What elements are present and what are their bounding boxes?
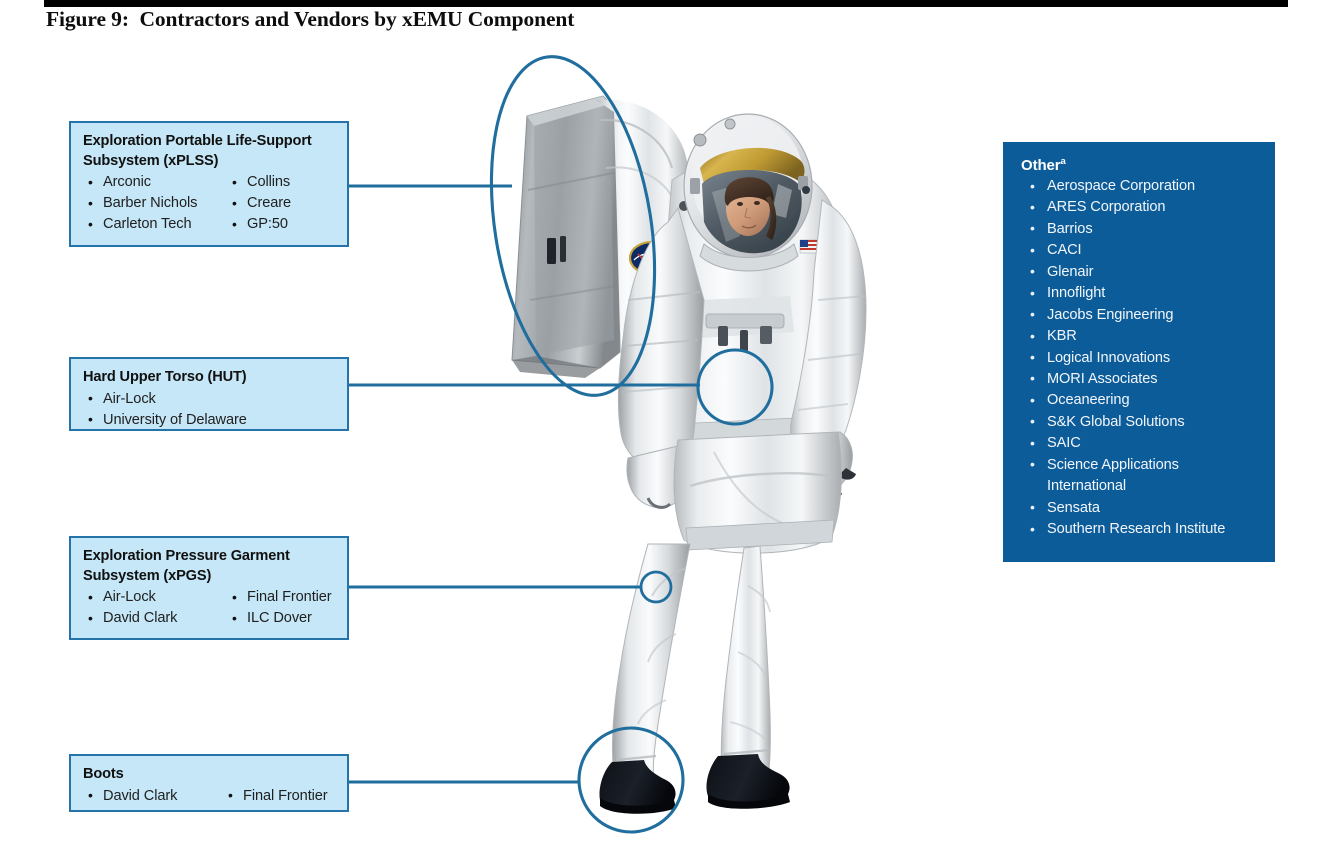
astronaut-figure [512, 96, 866, 814]
callout-xplss-lists: Arconic Barber Nichols Carleton Tech Col… [83, 171, 337, 235]
boots [600, 754, 791, 814]
list-item: Final Frontier [227, 587, 347, 608]
callout-xplss-title: Exploration Portable Life-Support Subsys… [83, 132, 337, 171]
list-item: KBR [1021, 326, 1263, 347]
list-item: S&K Global Solutions [1021, 412, 1263, 433]
list-item: GP:50 [227, 214, 347, 235]
callout-xpgs-lists: Air-Lock David Clark Final Frontier ILC … [83, 586, 337, 629]
list-item: Jacobs Engineering [1021, 305, 1263, 326]
callout-xpgs-col-left: Air-Lock David Clark [83, 587, 227, 629]
list-item: Glenair [1021, 262, 1263, 283]
callout-boots-col-right: Final Frontier [223, 786, 343, 807]
pressure-garment-hips [674, 432, 841, 553]
list-item: ARES Corporation [1021, 197, 1263, 218]
callout-xplss[interactable]: Exploration Portable Life-Support Subsys… [69, 121, 349, 247]
list-item: University of Delaware [83, 410, 247, 431]
figure-page: Figure 9: Contractors and Vendors by xEM… [0, 0, 1340, 844]
callout-xplss-col-left: Arconic Barber Nichols Carleton Tech [83, 172, 227, 235]
list-item: Aerospace Corporation [1021, 176, 1263, 197]
list-item: SAIC [1021, 433, 1263, 454]
list-item: Science Applications [1021, 455, 1263, 476]
list-item: Air-Lock [83, 587, 227, 608]
list-item: MORI Associates [1021, 369, 1263, 390]
list-item: Oceaneering [1021, 390, 1263, 411]
list-item: David Clark [83, 608, 227, 629]
callout-boots-col-left: David Clark [83, 786, 223, 807]
callout-boots[interactable]: Boots David Clark Final Frontier [69, 754, 349, 812]
callout-xpgs-title: Exploration Pressure Garment Subsystem (… [83, 547, 337, 586]
other-vendors-list: Aerospace Corporation ARES Corporation B… [1021, 176, 1263, 540]
callout-hut[interactable]: Hard Upper Torso (HUT) Air-Lock Universi… [69, 357, 349, 431]
list-item: Barrios [1021, 219, 1263, 240]
other-panel-title-text: Other [1021, 157, 1061, 174]
footnote-marker: a [1061, 156, 1066, 167]
callout-xpgs-col-right: Final Frontier ILC Dover [227, 587, 347, 629]
list-item: Arconic [83, 172, 227, 193]
list-item: Creare [227, 193, 347, 214]
callout-hut-title: Hard Upper Torso (HUT) [83, 368, 337, 388]
callout-hut-col-left: Air-Lock University of Delaware [83, 389, 247, 431]
list-item-continuation: International [1021, 476, 1263, 497]
list-item: Air-Lock [83, 389, 247, 410]
callout-boots-title: Boots [83, 765, 337, 785]
list-item: Final Frontier [223, 786, 343, 807]
list-item: Innoflight [1021, 283, 1263, 304]
list-item: Collins [227, 172, 347, 193]
list-item: David Clark [83, 786, 223, 807]
legs [613, 544, 771, 786]
callout-xpgs[interactable]: Exploration Pressure Garment Subsystem (… [69, 536, 349, 640]
list-item: CACI [1021, 240, 1263, 261]
list-item: ILC Dover [227, 608, 347, 629]
callout-boots-lists: David Clark Final Frontier [83, 785, 337, 807]
list-item: Southern Research Institute [1021, 519, 1263, 540]
other-vendors-panel[interactable]: Othera Aerospace Corporation ARES Corpor… [1003, 142, 1275, 562]
callout-xplss-col-right: Collins Creare GP:50 [227, 172, 347, 235]
list-item: Barber Nichols [83, 193, 227, 214]
list-item: Carleton Tech [83, 214, 227, 235]
other-panel-title: Othera [1021, 156, 1263, 174]
helmet [684, 114, 812, 271]
list-item: Logical Innovations [1021, 348, 1263, 369]
callout-hut-lists: Air-Lock University of Delaware [83, 388, 337, 431]
list-item: Sensata [1021, 498, 1263, 519]
